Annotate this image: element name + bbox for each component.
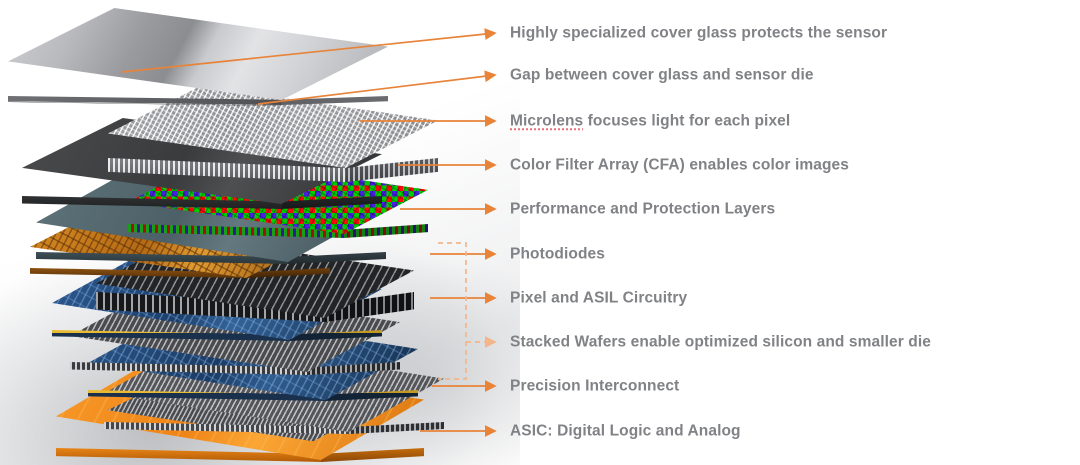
callout-label-precision-interconnect: Precision Interconnect: [510, 378, 679, 394]
misspelled-word: Microlens: [510, 112, 583, 130]
callout-label-asic: ASIC: Digital Logic and Analog: [510, 423, 741, 439]
callout-labels: Highly specialized cover glass protects …: [0, 0, 1080, 465]
callout-label-pixel-asil: Pixel and ASIL Circuitry: [510, 290, 687, 306]
sensor-stack-diagram: Highly specialized cover glass protects …: [0, 0, 1080, 465]
callout-label-gap: Gap between cover glass and sensor die: [510, 67, 814, 83]
callout-label-microlens-rest: focuses light for each pixel: [583, 112, 790, 129]
callout-label-cfa: Color Filter Array (CFA) enables color i…: [510, 157, 849, 173]
callout-label-cover-glass: Highly specialized cover glass protects …: [510, 25, 887, 41]
callout-label-photodiodes: Photodiodes: [510, 246, 605, 262]
callout-label-microlens: Microlens focuses light for each pixel: [510, 113, 790, 129]
callout-label-stacked-wafers: Stacked Wafers enable optimized silicon …: [510, 334, 931, 350]
callout-label-performance: Performance and Protection Layers: [510, 201, 775, 217]
